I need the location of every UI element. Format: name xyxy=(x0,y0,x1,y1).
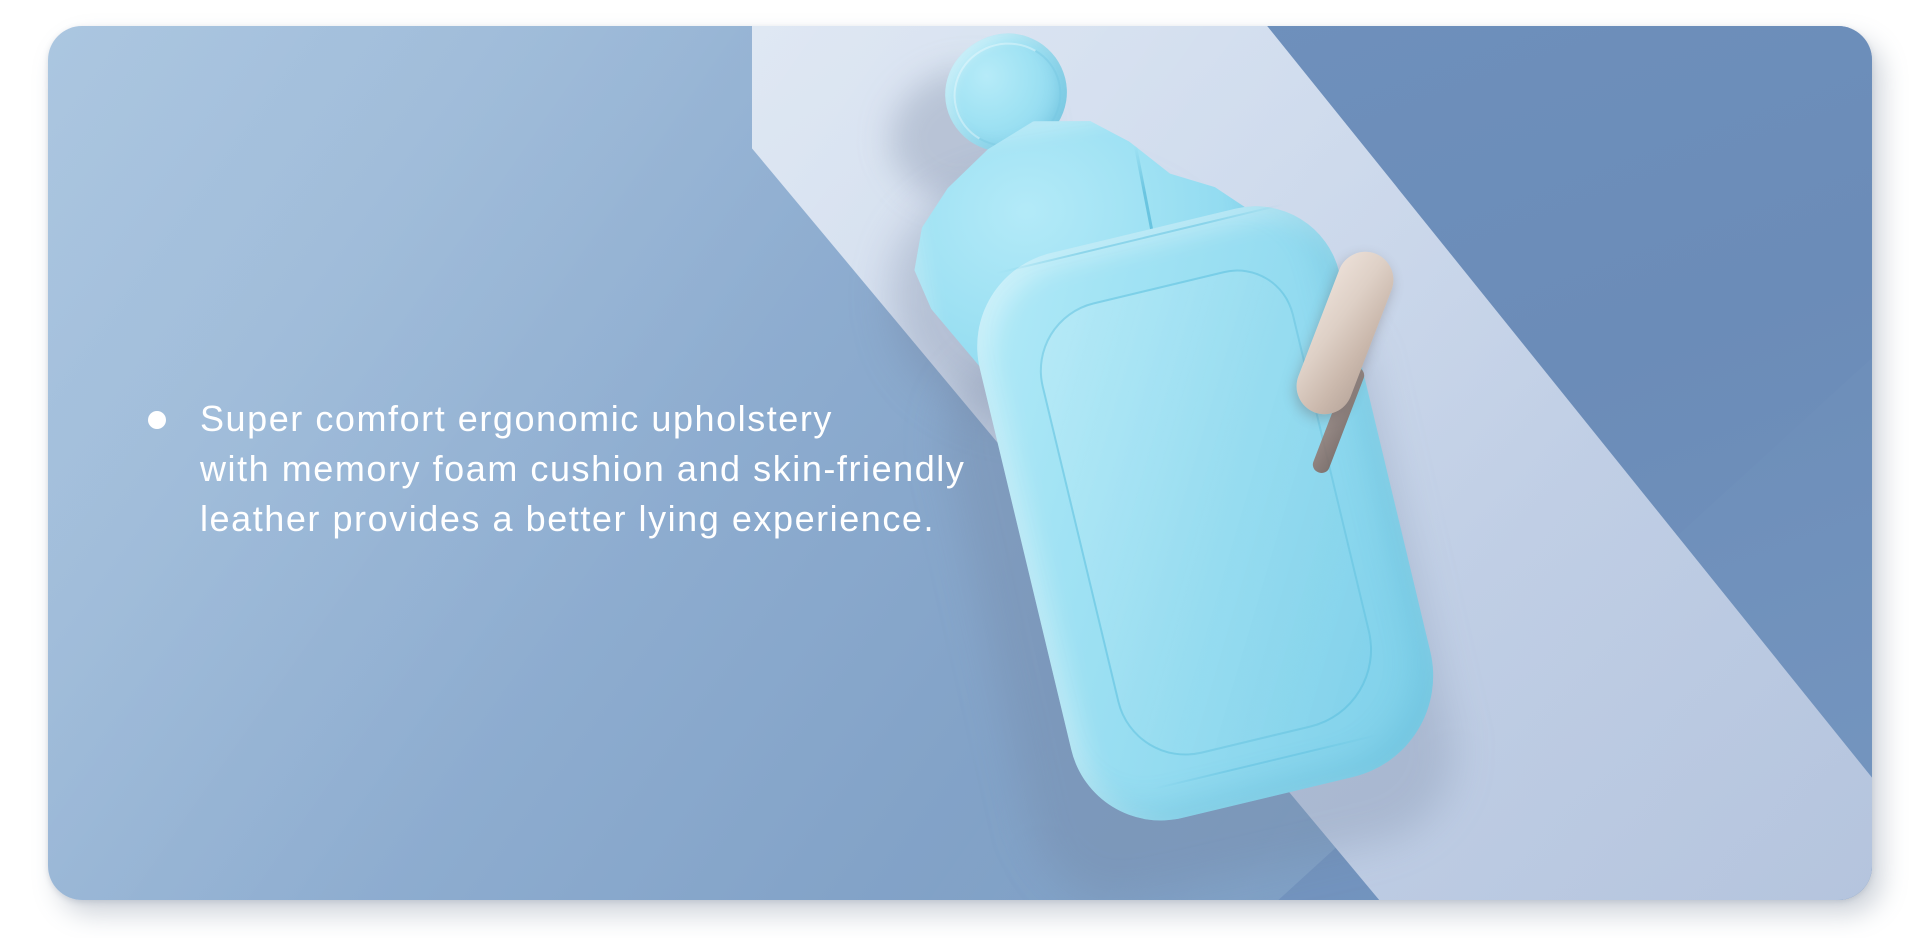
feature-text-line-3: leather provides a better lying experien… xyxy=(200,494,965,544)
feature-text-lines: Super comfort ergonomic upholstery with … xyxy=(200,394,965,544)
feature-text-block: Super comfort ergonomic upholstery with … xyxy=(148,394,1128,544)
bullet-dot-icon xyxy=(148,411,166,429)
feature-highlight-card: Super comfort ergonomic upholstery with … xyxy=(48,26,1872,900)
feature-text-line-2: with memory foam cushion and skin-friend… xyxy=(200,444,965,494)
feature-text-line-1: Super comfort ergonomic upholstery xyxy=(200,394,965,444)
screen: Super comfort ergonomic upholstery with … xyxy=(0,0,1920,938)
